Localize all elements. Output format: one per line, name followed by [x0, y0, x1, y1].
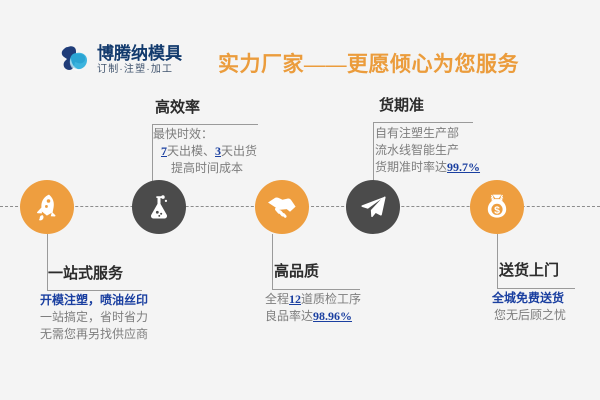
item-heading-door-delivery: 送货上门: [499, 261, 566, 281]
item-line-highlighted: 良品率达98.96%: [265, 308, 361, 325]
item-line: 最快时效：: [153, 126, 257, 143]
item-heading-one-stop-service: 一站式服务: [48, 264, 148, 284]
item-line: 自有注塑生产部: [375, 125, 480, 142]
item-line: 全城免费送货: [492, 290, 566, 307]
cloud-puzzle-logo-icon: [58, 44, 92, 76]
item-block-door-delivery: 送货上门 全城免费送货 您无后顾之忧: [490, 261, 566, 324]
timeline-node-high-efficiency[interactable]: [132, 180, 186, 234]
handshake-icon: [266, 191, 298, 223]
item-block-on-time-delivery: 货期准 自有注塑生产部 流水线智能生产 货期准时率达99.7%: [367, 96, 480, 176]
item-heading-on-time-delivery: 货期准: [379, 96, 480, 116]
page-title: 实力厂家——更愿倾心为您服务: [218, 48, 519, 78]
item-line: 您无后顾之忧: [494, 307, 566, 324]
item-line: 流水线智能生产: [375, 142, 480, 159]
svg-text:$: $: [494, 204, 500, 216]
paper-plane-icon: [358, 192, 388, 222]
logo-company-name: 博腾纳模具: [97, 44, 182, 63]
item-block-high-efficiency: 高效率 最快时效： 7天出模、3天出货 提高时间成本: [145, 98, 257, 177]
money-bag-icon: $: [481, 191, 513, 223]
company-logo: 博腾纳模具 订制·注塑·加工: [58, 44, 182, 76]
item-block-high-quality: 高品质 全程12道质检工序 良品率达98.96%: [265, 262, 361, 325]
logo-wordmark: 博腾纳模具 订制·注塑·加工: [97, 44, 182, 76]
item-line-highlighted: 全程12道质检工序: [265, 291, 361, 308]
item-block-one-stop-service: 一站式服务 开模注塑，喷油丝印 一站搞定，省时省力 无需您再另找供应商: [40, 264, 148, 343]
infographic-canvas: 博腾纳模具 订制·注塑·加工 实力厂家——更愿倾心为您服务: [0, 0, 600, 400]
item-line: 开模注塑，喷油丝印: [40, 292, 148, 309]
item-line: 无需您再另找供应商: [40, 326, 148, 343]
timeline-node-on-time-delivery[interactable]: [346, 180, 400, 234]
item-line: 提高时间成本: [171, 160, 257, 177]
item-line-highlighted: 7天出模、3天出货: [161, 143, 257, 160]
header: 博腾纳模具 订制·注塑·加工 实力厂家——更愿倾心为您服务: [0, 42, 600, 94]
timeline-node-one-stop-service[interactable]: [20, 180, 74, 234]
item-line-highlighted: 货期准时率达99.7%: [375, 159, 480, 176]
rocket-icon: [32, 192, 62, 222]
item-heading-high-quality: 高品质: [274, 262, 361, 282]
flask-icon: [144, 192, 174, 222]
logo-tagline: 订制·注塑·加工: [97, 63, 182, 76]
timeline-node-door-delivery[interactable]: $: [470, 180, 524, 234]
timeline-node-high-quality[interactable]: [255, 180, 309, 234]
item-heading-high-efficiency: 高效率: [155, 98, 257, 118]
item-line: 一站搞定，省时省力: [40, 309, 148, 326]
